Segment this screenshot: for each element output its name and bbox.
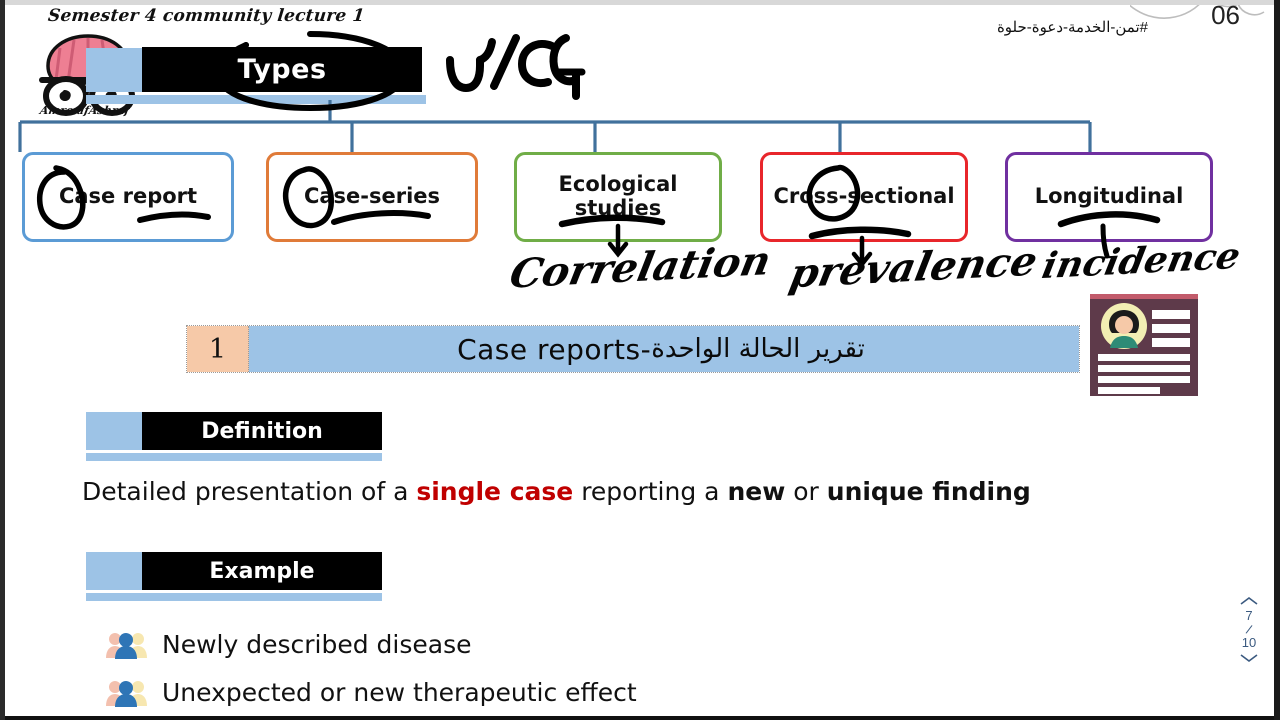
section-title-english: Case reports-	[457, 333, 651, 366]
player-left-edge	[0, 0, 5, 720]
player-top-edge	[0, 0, 1280, 5]
chevron-up-icon[interactable]	[1239, 595, 1259, 607]
category-label: Longitudinal	[1035, 185, 1184, 209]
player-bottom-edge	[0, 716, 1280, 720]
definition-highlight-single-case: single case	[416, 477, 573, 506]
definition-bold-unique-finding: unique finding	[827, 477, 1031, 506]
example-heading-banner: Example	[86, 552, 386, 602]
page-total: 10	[1242, 636, 1256, 650]
definition-body-text: Detailed presentation of a single case r…	[82, 477, 1031, 506]
section-title-bar: 1 Case reports- تقرير الحالة الواحدة	[186, 325, 1080, 373]
tree-connector-lines	[0, 100, 1280, 160]
category-box-case-report[interactable]: Case report	[22, 152, 234, 242]
semester-note: Semester 4 community lecture 1	[47, 6, 366, 26]
definition-part-2: reporting a	[573, 477, 727, 506]
section-title-arabic: تقرير الحالة الواحدة	[651, 334, 865, 364]
category-box-cross-sectional[interactable]: Cross-sectional	[760, 152, 968, 242]
definition-underbar	[86, 453, 382, 461]
category-label: Case-series	[304, 185, 440, 209]
definition-part-4: or	[785, 477, 826, 506]
list-item-label: Newly described disease	[162, 630, 471, 659]
category-box-ecological-studies[interactable]: Ecological studies	[514, 152, 722, 242]
definition-accent-square	[86, 412, 142, 450]
id-card-illustration	[1088, 292, 1200, 400]
definition-part-0: Detailed presentation of a	[82, 477, 416, 506]
handwritten-annotation-prevalence: prevalence	[786, 238, 1041, 298]
example-accent-square	[86, 552, 142, 590]
category-label: Case report	[59, 185, 197, 209]
definition-heading-banner: Definition	[86, 412, 386, 462]
definition-heading-label: Definition	[142, 412, 382, 450]
section-title-text: Case reports- تقرير الحالة الواحدة	[249, 326, 1079, 372]
hashtag-label: #تمن-الخدمة-دعوة-حلوة	[997, 18, 1148, 36]
category-box-case-series[interactable]: Case-series	[266, 152, 478, 242]
handwritten-annotation-correlation: Correlation	[506, 237, 775, 297]
category-label: Ecological studies	[523, 173, 713, 220]
section-number: 1	[187, 326, 249, 372]
category-label: Cross-sectional	[773, 185, 954, 209]
definition-bold-new: new	[727, 477, 785, 506]
example-heading-label: Example	[142, 552, 382, 590]
handwritten-annotation-incidence: incidence	[1039, 235, 1244, 287]
people-icon	[104, 628, 150, 660]
types-banner-accent-square	[86, 48, 144, 92]
slide-canvas: Semester 4 community lecture 1 Amro afAs…	[0, 0, 1280, 720]
list-item-label: Unexpected or new therapeutic effect	[162, 678, 637, 707]
handwritten-ellipse-annotation	[210, 28, 410, 114]
handwritten-arabic-annotation	[440, 30, 590, 112]
page-indicator: 7 / 10	[1242, 609, 1256, 650]
page-scroll-nav[interactable]: 7 / 10	[1232, 595, 1266, 664]
player-right-edge	[1274, 0, 1280, 720]
people-icon	[104, 676, 150, 708]
category-box-longitudinal[interactable]: Longitudinal	[1005, 152, 1213, 242]
example-underbar	[86, 593, 382, 601]
chevron-down-icon[interactable]	[1239, 652, 1259, 664]
page-current: 7	[1245, 609, 1252, 623]
list-item: Unexpected or new therapeutic effect	[104, 676, 637, 708]
list-item: Newly described disease	[104, 628, 471, 660]
scalloped-decoration-icon	[1130, 0, 1270, 50]
